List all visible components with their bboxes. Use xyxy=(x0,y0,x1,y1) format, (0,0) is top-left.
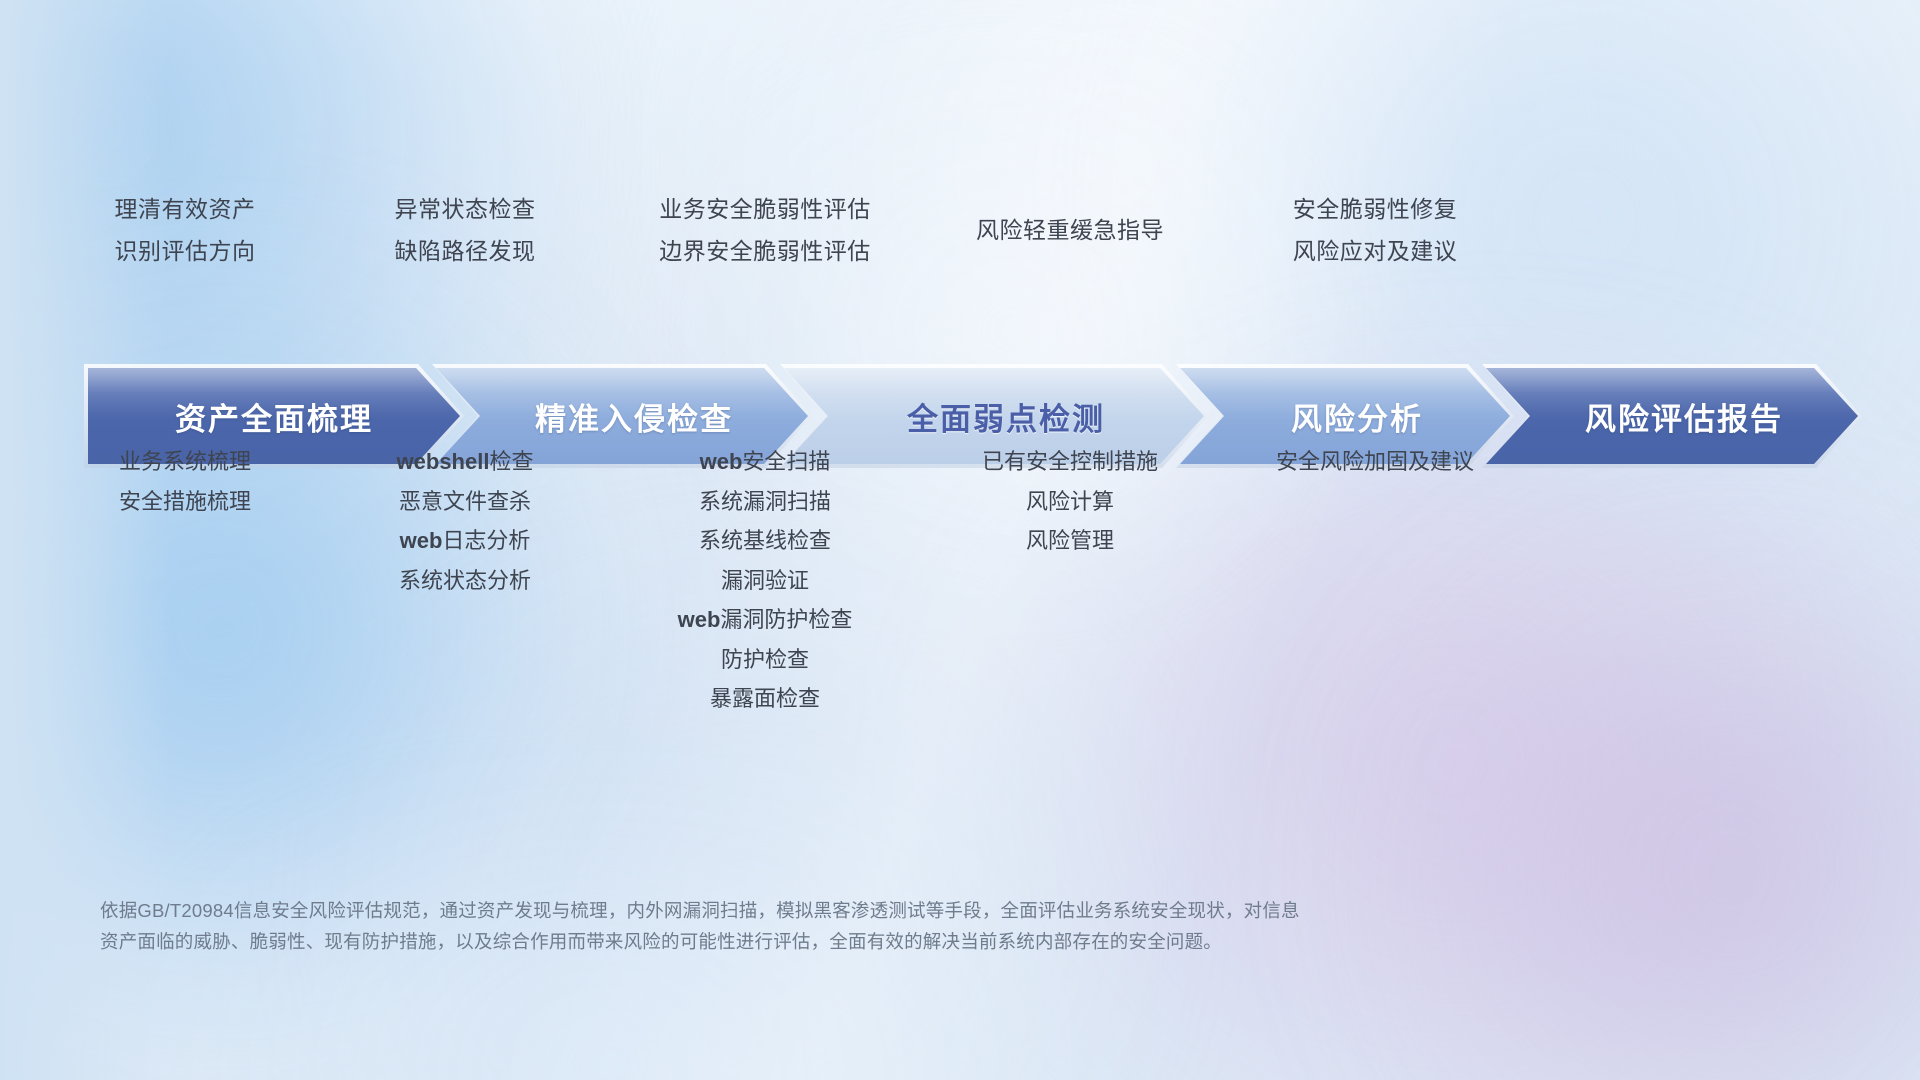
stage-title: 全面弱点检测 xyxy=(907,394,1105,439)
footer-line-2: 资产面临的威胁、脆弱性、现有防护措施，以及综合作用而带来风险的可能性进行评估，全… xyxy=(100,926,1660,957)
detail-item-prefix: web xyxy=(400,528,443,553)
detail-item-text: 业务系统梳理 xyxy=(119,449,251,474)
stage-detail-list-intrusion-check: webshell检查恶意文件查杀web日志分析系统状态分析 xyxy=(397,442,534,600)
detail-item[interactable]: web安全扫描 xyxy=(678,442,853,482)
detail-item-text: 安全措施梳理 xyxy=(119,489,251,514)
detail-item-text: 已有安全控制措施 xyxy=(982,449,1158,474)
detail-item-text: 风险管理 xyxy=(1026,528,1114,553)
detail-item[interactable]: 系统漏洞扫描 xyxy=(678,482,853,522)
stage-top-label-intrusion-check: 异常状态检查缺陷路径发现 xyxy=(395,188,536,272)
stage-title: 资产全面梳理 xyxy=(175,394,373,439)
top-label-line: 异常状态检查 xyxy=(395,188,536,230)
detail-item-text: 系统状态分析 xyxy=(399,568,531,593)
slide-canvas: 理清有效资产识别评估方向异常状态检查缺陷路径发现业务安全脆弱性评估边界安全脆弱性… xyxy=(0,0,1920,1080)
stage-detail-list-risk-analysis: 已有安全控制措施风险计算风险管理 xyxy=(982,442,1158,561)
detail-item[interactable]: 防护检查 xyxy=(678,640,853,680)
stage-detail-lists: 业务系统梳理安全措施梳理webshell检查恶意文件查杀web日志分析系统状态分… xyxy=(0,470,1920,730)
detail-item-text: 日志分析 xyxy=(442,528,530,553)
detail-item[interactable]: 业务系统梳理 xyxy=(119,442,251,482)
detail-item-text: 漏洞验证 xyxy=(721,568,809,593)
detail-item-text: 检查 xyxy=(489,449,533,474)
stage-top-label-risk-report: 安全脆弱性修复风险应对及建议 xyxy=(1293,188,1458,272)
detail-item[interactable]: 暴露面检查 xyxy=(678,679,853,719)
top-label-line: 缺陷路径发现 xyxy=(395,230,536,272)
detail-item-text: 系统漏洞扫描 xyxy=(699,489,831,514)
detail-item-prefix: webshell xyxy=(397,449,490,474)
detail-item[interactable]: 系统状态分析 xyxy=(397,561,534,601)
detail-item-text: 恶意文件查杀 xyxy=(399,489,531,514)
footer-description: 依据GB/T20984信息安全风险评估规范，通过资产发现与梳理，内外网漏洞扫描，… xyxy=(100,895,1660,957)
detail-item[interactable]: webshell检查 xyxy=(397,442,534,482)
stage-title: 精准入侵检查 xyxy=(535,394,733,439)
footer-line-1: 依据GB/T20984信息安全风险评估规范，通过资产发现与梳理，内外网漏洞扫描，… xyxy=(100,895,1660,926)
detail-item-text: 暴露面检查 xyxy=(710,686,820,711)
stage-title: 风险评估报告 xyxy=(1585,394,1783,439)
detail-item-text: 漏洞防护检查 xyxy=(720,607,852,632)
top-label-line: 安全脆弱性修复 xyxy=(1293,188,1458,230)
detail-item-text: 风险计算 xyxy=(1026,489,1114,514)
top-label-line: 业务安全脆弱性评估 xyxy=(659,188,871,230)
detail-item[interactable]: 安全措施梳理 xyxy=(119,482,251,522)
stage-top-label-weakness-detection: 业务安全脆弱性评估边界安全脆弱性评估 xyxy=(659,188,871,272)
process-chevron-band: 资产全面梳理精准入侵检查全面弱点检测风险分析风险评估报告 xyxy=(88,368,1858,464)
detail-item[interactable]: 安全风险加固及建议 xyxy=(1276,442,1474,482)
top-label-line: 识别评估方向 xyxy=(115,230,256,272)
detail-item[interactable]: 系统基线检查 xyxy=(678,521,853,561)
top-label-line: 风险轻重缓急指导 xyxy=(976,209,1164,251)
detail-item[interactable]: 漏洞验证 xyxy=(678,561,853,601)
stage-detail-list-asset-inventory: 业务系统梳理安全措施梳理 xyxy=(119,442,251,521)
stage-title: 风险分析 xyxy=(1291,394,1423,439)
top-label-line: 边界安全脆弱性评估 xyxy=(659,230,871,272)
stage-top-label-risk-analysis: 风险轻重缓急指导 xyxy=(976,209,1164,251)
stage-top-labels: 理清有效资产识别评估方向异常状态检查缺陷路径发现业务安全脆弱性评估边界安全脆弱性… xyxy=(0,0,1920,300)
detail-item[interactable]: 风险计算 xyxy=(982,482,1158,522)
top-label-line: 理清有效资产 xyxy=(115,188,256,230)
detail-item-text: 系统基线检查 xyxy=(699,528,831,553)
process-stage-risk-report[interactable]: 风险评估报告 xyxy=(1486,368,1858,464)
top-label-line: 风险应对及建议 xyxy=(1293,230,1458,272)
detail-item[interactable]: 风险管理 xyxy=(982,521,1158,561)
detail-item-text: 安全风险加固及建议 xyxy=(1276,449,1474,474)
detail-item-text: 防护检查 xyxy=(721,647,809,672)
detail-item[interactable]: web漏洞防护检查 xyxy=(678,600,853,640)
stage-detail-list-weakness-detection: web安全扫描系统漏洞扫描系统基线检查漏洞验证web漏洞防护检查防护检查暴露面检… xyxy=(678,442,853,719)
detail-item[interactable]: 恶意文件查杀 xyxy=(397,482,534,522)
detail-item-prefix: web xyxy=(678,607,721,632)
detail-item-text: 安全扫描 xyxy=(742,449,830,474)
detail-item-prefix: web xyxy=(700,449,743,474)
stage-detail-list-risk-report: 安全风险加固及建议 xyxy=(1276,442,1474,482)
detail-item[interactable]: 已有安全控制措施 xyxy=(982,442,1158,482)
detail-item[interactable]: web日志分析 xyxy=(397,521,534,561)
stage-top-label-asset-inventory: 理清有效资产识别评估方向 xyxy=(115,188,256,272)
